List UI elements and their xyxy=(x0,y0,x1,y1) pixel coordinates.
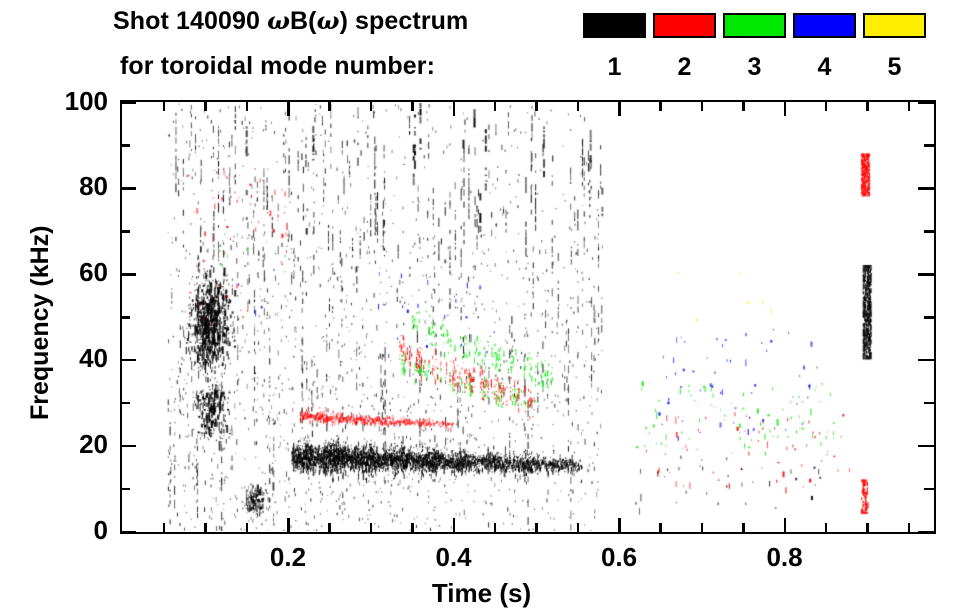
x-tick-label-0.4: 0.4 xyxy=(399,542,509,573)
y-tick-label-20: 20 xyxy=(36,429,108,460)
legend-swatch-5 xyxy=(863,13,926,38)
x-axis-title: Time (s) xyxy=(0,578,963,609)
x-tick-label-0.8: 0.8 xyxy=(730,542,840,573)
legend-label-2: 2 xyxy=(653,53,716,82)
figure-root: Shot 140090 ωB(ω) spectrum for toroidal … xyxy=(0,0,963,615)
y-axis-title: Frequency (kHz) xyxy=(26,226,55,420)
plot-area xyxy=(120,100,936,534)
legend-label-4: 4 xyxy=(793,53,856,82)
legend-swatch-2 xyxy=(653,13,716,38)
legend: 12345 xyxy=(0,0,963,92)
legend-swatch-3 xyxy=(723,13,786,38)
y-tick-label-0: 0 xyxy=(36,515,108,546)
legend-swatch-1 xyxy=(583,13,646,38)
y-tick-label-80: 80 xyxy=(36,171,108,202)
legend-label-5: 5 xyxy=(863,53,926,82)
legend-swatch-4 xyxy=(793,13,856,38)
spectrogram-canvas xyxy=(122,102,933,531)
legend-label-3: 3 xyxy=(723,53,786,82)
x-tick-label-0.6: 0.6 xyxy=(564,542,674,573)
x-tick-label-0.2: 0.2 xyxy=(233,542,343,573)
legend-label-1: 1 xyxy=(583,53,646,82)
